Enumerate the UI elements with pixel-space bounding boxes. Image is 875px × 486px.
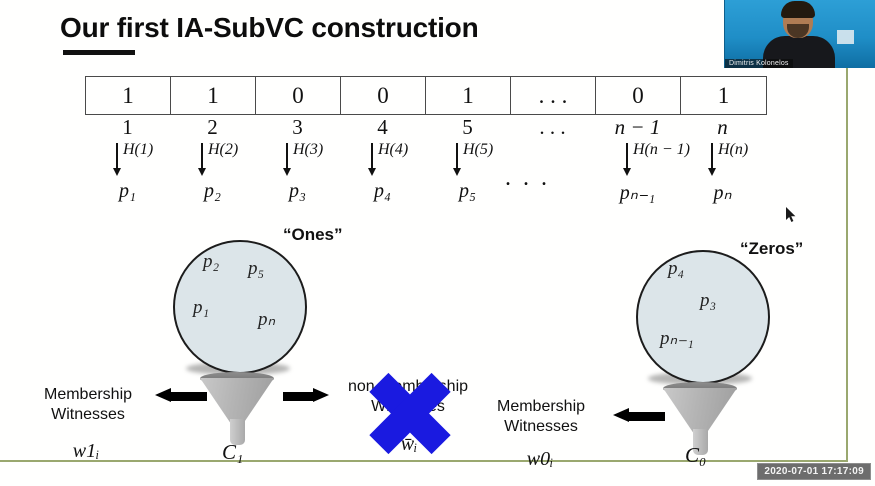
hash-arrow-group: H(4) <box>340 143 425 185</box>
arrow-head <box>313 388 329 402</box>
slide-canvas: Our first IA-SubVC construction 1 1 0 0 … <box>0 0 875 486</box>
down-arrow-icon <box>456 143 458 171</box>
crossed-out-marker-icon <box>367 370 453 456</box>
page-title: Our first IA-SubVC construction <box>60 12 478 44</box>
ones-bubble-item: p₅ <box>248 258 264 280</box>
bit-index-row: 1 2 3 4 5 . . . n − 1 n <box>85 115 765 140</box>
prime-label: pₙ₋₁ <box>595 180 680 205</box>
prime-label-row: p₁ p₂ p₃ p₄ p₅ pₙ₋₁ pₙ <box>85 180 765 205</box>
prime-label: pₙ <box>680 180 765 205</box>
funnel-cone <box>663 388 737 434</box>
hash-arrow-group: H(n) <box>680 143 765 185</box>
down-arrow-icon <box>711 143 713 171</box>
bit-cell: 0 <box>596 77 681 114</box>
ones-bubble-item: p₁ <box>193 297 209 319</box>
down-arrow-icon <box>201 143 203 171</box>
bit-vector-table: 1 1 0 0 1 . . . 0 1 <box>85 76 767 115</box>
background-panel <box>837 30 854 44</box>
witness-right-line1: Membership <box>477 397 605 417</box>
witness-left-variable: w1ᵢ <box>46 440 126 463</box>
participant-name-label: Dimitris Kolonelos <box>725 59 793 68</box>
zeros-bubble-item: pₙ₋₁ <box>660 327 694 350</box>
bit-cell: 0 <box>256 77 341 114</box>
hash-arrow-group: H(3) <box>255 143 340 185</box>
bit-cell: 0 <box>341 77 426 114</box>
zeros-bubble <box>636 250 770 384</box>
funnel-cone <box>200 378 274 424</box>
prime-label: p₅ <box>425 180 510 205</box>
prime-label: p₂ <box>170 180 255 205</box>
title-underline-rule <box>63 50 135 55</box>
hash-label: H(1) <box>123 141 153 159</box>
bit-index: n − 1 <box>595 115 680 140</box>
bit-cell: . . . <box>511 77 596 114</box>
hash-label: H(2) <box>208 141 238 159</box>
witness-right-variable: w0ᵢ <box>500 448 580 471</box>
ones-bubble-item: pₙ <box>258 308 275 331</box>
ones-bubble-label: “Ones” <box>283 225 343 245</box>
hash-label: H(4) <box>378 141 408 159</box>
bit-index: 1 <box>85 115 170 140</box>
witness-left-line2: Witnesses <box>24 405 152 425</box>
speaker-hair <box>781 1 815 18</box>
hash-label: H(5) <box>463 141 493 159</box>
bit-index: 5 <box>425 115 510 140</box>
commitment-c1-label: C₁ <box>222 440 243 465</box>
frame-vertical-line <box>846 0 848 462</box>
zeros-bubble-label: “Zeros” <box>740 239 803 259</box>
prime-label-gap <box>510 180 595 205</box>
witness-left-caption: Membership Witnesses <box>24 385 152 425</box>
hash-arrow-group: H(2) <box>170 143 255 185</box>
arrow-shaft <box>627 412 665 421</box>
arrow-left-membership-zeros-icon <box>613 408 665 423</box>
mouse-cursor-icon <box>786 207 797 223</box>
bit-cell: 1 <box>86 77 171 114</box>
down-arrow-icon <box>286 143 288 171</box>
bit-index: 2 <box>170 115 255 140</box>
hash-arrow-group: H(n − 1) <box>595 143 680 185</box>
recording-timestamp: 2020-07-01 17:17:09 <box>757 463 871 480</box>
commitment-c0-label: C₀ <box>685 443 706 468</box>
bit-index: 4 <box>340 115 425 140</box>
bit-cell: 1 <box>171 77 256 114</box>
prime-label: p₃ <box>255 180 340 205</box>
arrow-shaft <box>283 392 315 401</box>
hash-label: H(n) <box>718 141 748 159</box>
witness-right-line2: Witnesses <box>477 417 605 437</box>
hash-arrow-group: H(5) <box>425 143 510 185</box>
bit-index: n <box>680 115 765 140</box>
down-arrow-icon <box>116 143 118 171</box>
hash-arrow-row: H(1) H(2) H(3) H(4) H(5) H(n − 1) H(n) <box>85 143 765 185</box>
arrow-shaft <box>169 392 207 401</box>
arrow-left-membership-icon <box>155 388 207 403</box>
hash-label: H(3) <box>293 141 323 159</box>
prime-label: p₄ <box>340 180 425 205</box>
down-arrow-icon <box>626 143 628 171</box>
ones-bubble-item: p₂ <box>203 251 219 273</box>
webcam-video-overlay[interactable]: Dimitris Kolonelos <box>724 0 875 68</box>
bit-cell: 1 <box>681 77 766 114</box>
down-arrow-icon <box>371 143 373 171</box>
frame-horizontal-line <box>0 460 848 462</box>
prime-label: p₁ <box>85 180 170 205</box>
witness-left-line1: Membership <box>24 385 152 405</box>
bit-cell: 1 <box>426 77 511 114</box>
hash-arrow-group: H(1) <box>85 143 170 185</box>
zeros-bubble-item: p₃ <box>700 290 716 312</box>
bit-index: . . . <box>510 115 595 140</box>
arrow-right-nonmembership-icon <box>283 388 329 403</box>
funnel-left-icon <box>200 372 274 448</box>
witness-right-caption: Membership Witnesses <box>477 397 605 437</box>
bit-index: 3 <box>255 115 340 140</box>
zeros-bubble-item: p₄ <box>668 258 684 280</box>
